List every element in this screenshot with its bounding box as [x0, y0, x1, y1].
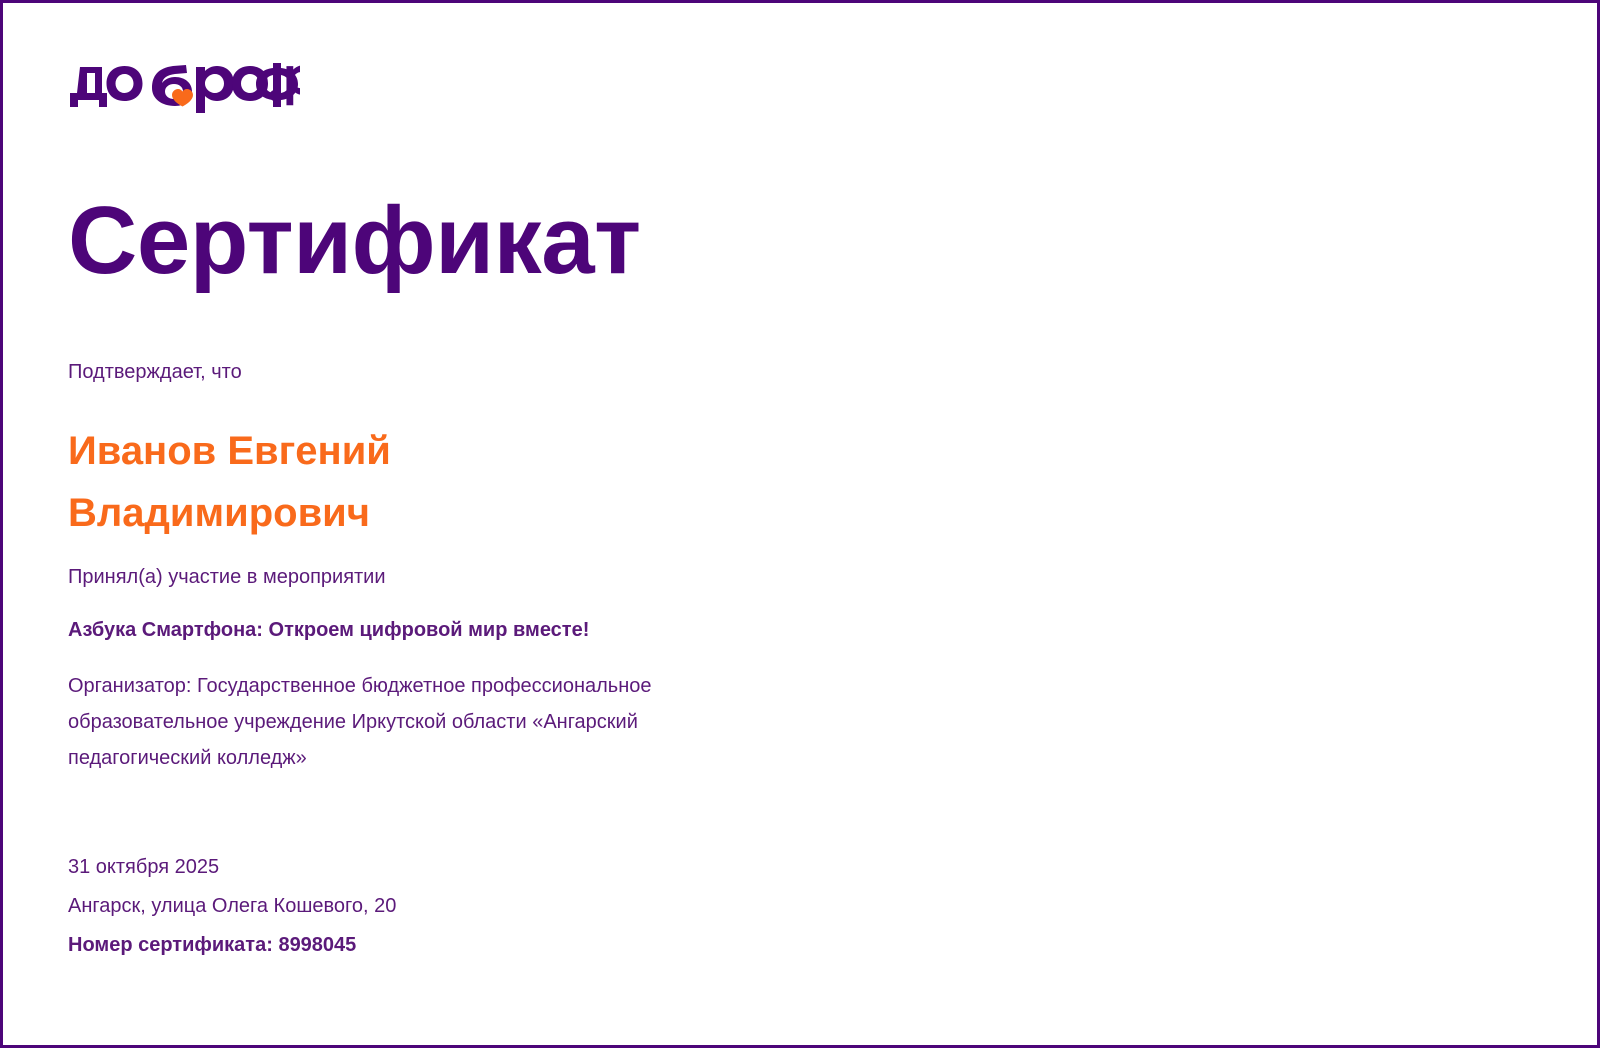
organizer-text: Организатор: Государственное бюджетное п…: [68, 668, 748, 776]
certificate-footer: 31 октября 2025 Ангарск, улица Олега Кош…: [68, 848, 396, 965]
recipient-name: Иванов Евгений Владимирович: [68, 420, 538, 544]
event-name: Азбука Смартфона: Откроем цифровой мир в…: [68, 616, 589, 644]
issue-date: 31 октября 2025: [68, 848, 396, 887]
certificate-number: Номер сертификата: 8998045: [68, 926, 396, 965]
participation-label: Принял(а) участие в мероприятии: [68, 563, 386, 591]
logo-wordmark: [68, 61, 300, 113]
page-title: Сертификат: [68, 191, 641, 292]
certificate-content: Сертификат Подтверждает, что Иванов Евге…: [68, 3, 1548, 1045]
dobro-rf-logo[interactable]: [68, 61, 300, 113]
certificate-page: Сертификат Подтверждает, что Иванов Евге…: [0, 0, 1600, 1048]
issue-location: Ангарск, улица Олега Кошевого, 20: [68, 887, 396, 926]
confirm-label: Подтверждает, что: [68, 358, 242, 386]
